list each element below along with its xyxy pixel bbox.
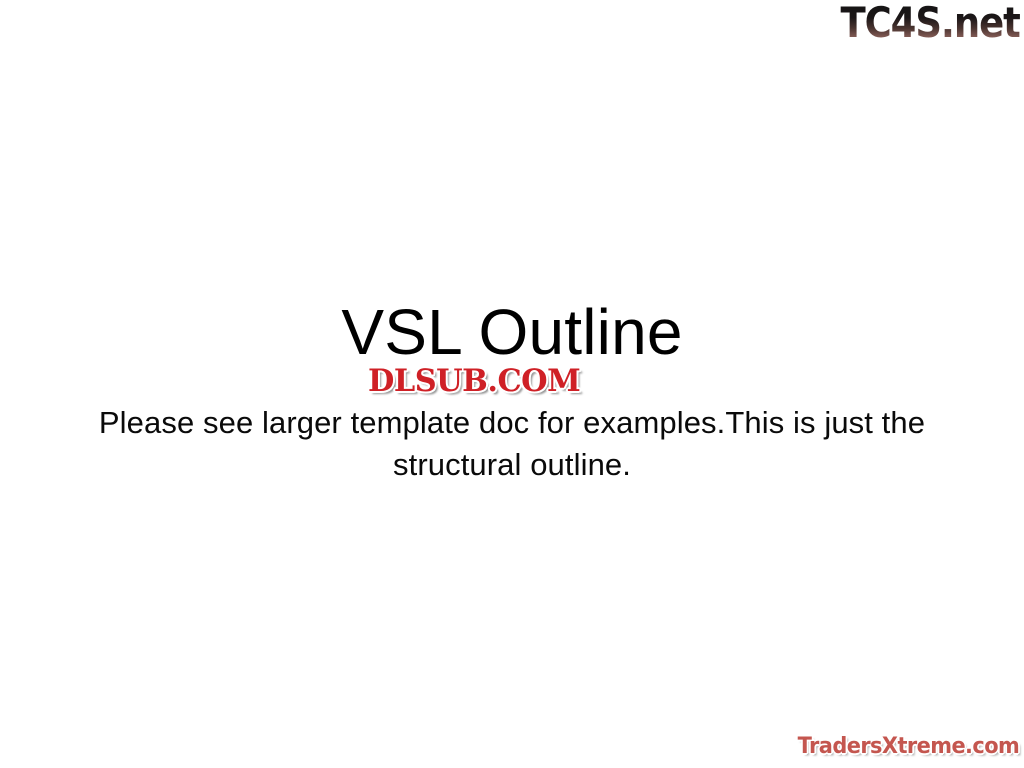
slide-title: VSL Outline xyxy=(0,296,1024,368)
presentation-slide: TC4S.net VSL Outline DLSUB.COM Please se… xyxy=(0,0,1024,768)
watermark-dlsub-logo: DLSUB.COM xyxy=(368,363,580,399)
watermark-tc4s-logo: TC4S.net xyxy=(841,1,1020,45)
watermark-tradersxtreme-logo: TradersXtreme.com xyxy=(797,734,1019,760)
slide-subtitle: Please see larger template doc for examp… xyxy=(62,402,962,486)
